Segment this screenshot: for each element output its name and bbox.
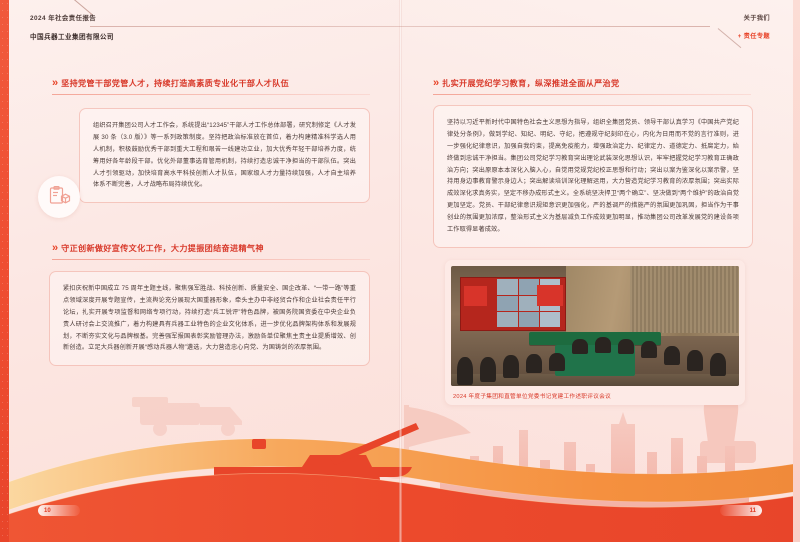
page-number-right: 11	[720, 505, 762, 516]
text-card-talent: 组织召开集团公司人才工作会，系统提出“12345”干部人才工作总体部署，研究制修…	[79, 108, 370, 203]
plus-icon: +	[738, 34, 742, 40]
section-body-1: 组织召开集团公司人才工作会，系统提出“12345”干部人才工作总体部署，研究制修…	[93, 120, 356, 191]
section-culture-publicity: » 守正创新做好宣传文化工作，大力提振团结奋进精气神	[52, 243, 370, 260]
section-heading-2: » 守正创新做好宣传文化工作，大力提振团结奋进精气神	[52, 243, 370, 254]
nav-responsibility-topic[interactable]: +责任专题	[738, 31, 770, 40]
clipboard-cube-icon-badge	[38, 176, 80, 218]
nav-responsibility-topic-label: 责任专题	[744, 33, 770, 40]
section-body-3: 坚持以习近平新时代中国特色社会主义思想为指导，组织全集团党员、领导干部认真学习《…	[447, 117, 739, 236]
company-name: 中国兵器工业集团有限公司	[30, 31, 114, 41]
photo-caption: 2024 年度子集团和直管单位党委书记党建工作述职评议会议	[451, 386, 739, 405]
chevron-double-right-icon: »	[433, 78, 437, 89]
section-party-discipline: » 扎实开展党纪学习教育，纵深推进全面从严治党	[433, 78, 751, 95]
section-rule-1	[52, 94, 370, 95]
section-body-2: 紧扣庆祝新中国成立 75 周年主题主线，聚焦强军胜战、科技创新、质量安全、国企改…	[63, 283, 356, 354]
photo-attendees	[451, 316, 739, 386]
page-gutter	[399, 0, 402, 542]
section-talent-management: » 坚持党管干部党管人才，持续打造高素质专业化干部人才队伍	[52, 78, 370, 95]
chevron-double-right-icon: »	[52, 243, 56, 254]
text-card-discipline: 坚持以习近平新时代中国特色社会主义思想为指导，组织全集团党员、领导干部认真学习《…	[433, 105, 753, 248]
report-title: 2024 年社会责任报告	[30, 13, 96, 22]
report-page-spread: 2024 年社会责任报告 中国兵器工业集团有限公司 关于我们 +责任专题 » 坚…	[0, 0, 800, 542]
right-edge-accent-bar	[793, 0, 800, 542]
photo-card: 2024 年度子集团和直管单位党委书记党建工作述职评议会议	[445, 260, 745, 405]
section-title-2: 守正创新做好宣传文化工作，大力提振团结奋进精气神	[61, 243, 264, 254]
text-card-culture: 紧扣庆祝新中国成立 75 周年主题主线，聚焦强军胜战、科技创新、质量安全、国企改…	[49, 271, 370, 366]
section-title-1: 坚持党管干部党管人才，持续打造高素质专业化干部人才队伍	[61, 78, 289, 89]
chevron-double-right-icon: »	[52, 78, 56, 89]
photo-banner-right	[537, 285, 563, 305]
page-header: 2024 年社会责任报告 中国兵器工业集团有限公司 关于我们 +责任专题	[0, 0, 800, 58]
page-number-left: 10	[38, 505, 80, 516]
photo-banner-left	[464, 286, 487, 305]
section-rule-3	[433, 94, 751, 95]
section-rule-2	[52, 259, 370, 260]
conference-room-meeting-photo	[451, 266, 739, 386]
clipboard-cube-icon	[47, 185, 71, 209]
header-rule	[90, 26, 710, 27]
section-title-3: 扎实开展党纪学习教育，纵深推进全面从严治党	[442, 78, 619, 89]
section-heading-1: » 坚持党管干部党管人才，持续打造高素质专业化干部人才队伍	[52, 78, 370, 89]
nav-about-us[interactable]: 关于我们	[744, 13, 770, 22]
left-edge-accent-bar	[0, 0, 9, 542]
section-heading-3: » 扎实开展党纪学习教育，纵深推进全面从严治党	[433, 78, 751, 89]
